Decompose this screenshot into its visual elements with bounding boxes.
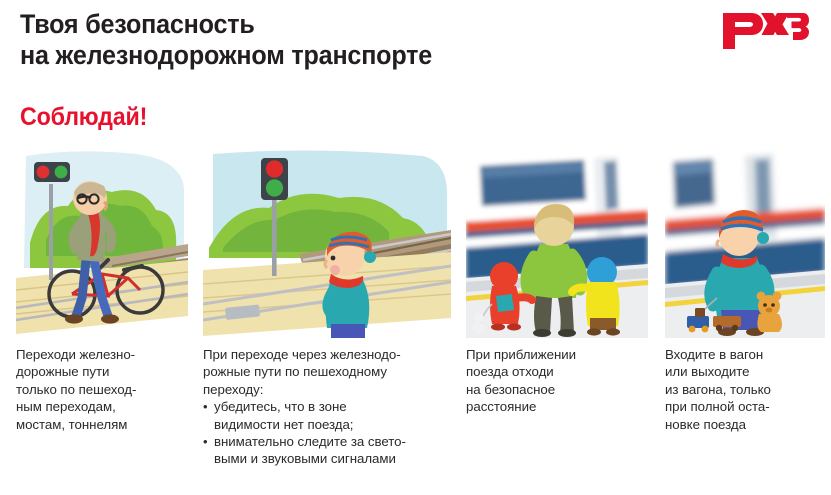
- panel-crossing-rules: При переходе через железнодо- рожные пут…: [203, 148, 451, 495]
- caption-line: Переходи железно-: [16, 346, 188, 363]
- caption-line: при полной оста-: [665, 398, 825, 415]
- title-line-1: Твоя безопасность: [20, 9, 634, 40]
- caption-line: расстояние: [466, 398, 648, 415]
- caption-line: поезда отходи: [466, 363, 648, 380]
- bullet-line: видимости нет поезда;: [214, 416, 451, 433]
- panel-1-caption: Переходи железно- дорожные пути только п…: [16, 346, 188, 433]
- caption-line: При приближении: [466, 346, 648, 363]
- caption-line: ным переходам,: [16, 398, 188, 415]
- bullet-line: внимательно следите за свето-: [214, 434, 406, 449]
- poster-header: Твоя безопасность на железнодорожном тра…: [0, 0, 831, 96]
- caption-line: или выходите: [665, 363, 825, 380]
- caption-line: только по пешеход-: [16, 381, 188, 398]
- child-with-toys-on-platform-illustration: [665, 148, 825, 338]
- panel-4-caption: Входите в вагон или выходите из вагона, …: [665, 346, 825, 433]
- caption-line: При переходе через железнодо-: [203, 346, 451, 363]
- bullet-line: выми и звуковыми сигналами: [214, 450, 451, 467]
- safety-poster: Твоя безопасность на железнодорожном тра…: [0, 0, 831, 495]
- list-item: убедитесь, что в зоне видимости нет поез…: [203, 398, 451, 433]
- caption-line: дорожные пути: [16, 363, 188, 380]
- caption-line: мостам, тоннелям: [16, 416, 188, 433]
- caption-line: рожные пути по пешеходному: [203, 363, 451, 380]
- rzd-logo: [721, 11, 809, 51]
- panel-2-caption: При переходе через железнодо- рожные пут…: [203, 346, 451, 468]
- cyclist-at-level-crossing-illustration: [16, 148, 188, 338]
- caption-line: переходу:: [203, 381, 451, 398]
- panel-boarding: Входите в вагон или выходите из вагона, …: [665, 148, 825, 495]
- poster-title: Твоя безопасность на железнодорожном тра…: [20, 9, 680, 71]
- panel-pedestrian-crossing: Переходи железно- дорожные пути только п…: [16, 148, 188, 495]
- title-line-2: на железнодорожном транспорте: [20, 40, 634, 71]
- panel-3-caption: При приближении поезда отходи на безопас…: [466, 346, 648, 416]
- child-watching-red-signal-illustration: [203, 148, 451, 338]
- list-item: внимательно следите за свето- выми и зву…: [203, 433, 451, 468]
- caption-line: Входите в вагон: [665, 346, 825, 363]
- caption-line: на безопасное: [466, 381, 648, 398]
- caption-line: из вагона, только: [665, 381, 825, 398]
- panel-row: Переходи железно- дорожные пути только п…: [0, 148, 831, 495]
- panel-safe-distance: При приближении поезда отходи на безопас…: [466, 148, 648, 495]
- family-on-platform-illustration: [466, 148, 648, 338]
- subtitle-sobludai: Соблюдай!: [20, 103, 147, 132]
- bullet-line: убедитесь, что в зоне: [214, 399, 347, 414]
- caption-line: новке поезда: [665, 416, 825, 433]
- caption-bullet-list: убедитесь, что в зоне видимости нет поез…: [203, 398, 451, 468]
